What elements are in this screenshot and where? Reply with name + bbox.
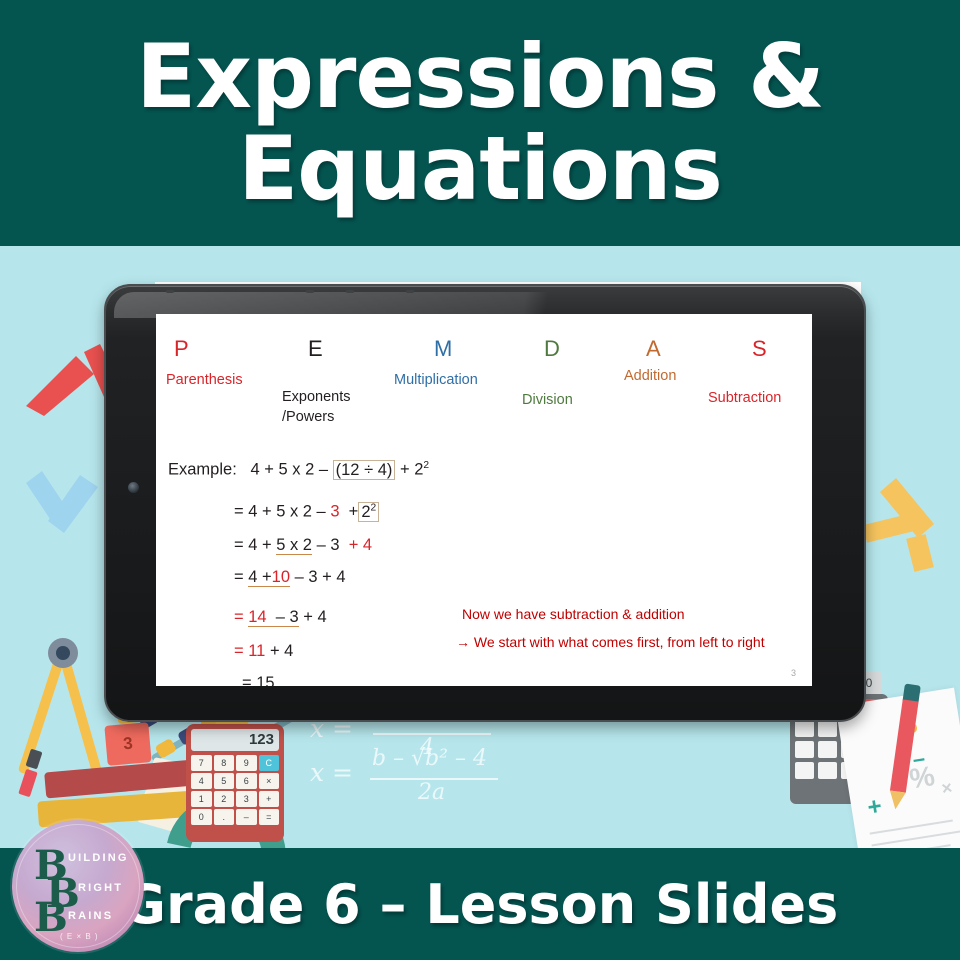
calc-key-clear[interactable]: C	[259, 755, 280, 771]
calc-key[interactable]	[795, 741, 814, 758]
step4-underline: 4 +10	[248, 568, 290, 587]
poster-root: Expressions & Equations x = b² + 4ac 4 x…	[0, 0, 960, 960]
compass-leg-left	[18, 657, 65, 774]
poster-header: Expressions & Equations	[0, 0, 960, 246]
example-line: Example: 4 + 5 x 2 – (12 ÷ 4) + 22	[168, 460, 429, 480]
step5-underline: 14 – 3	[248, 608, 298, 627]
pemdas-word-addition: Addition	[624, 368, 676, 384]
step-4: = 4 +10 – 3 + 4	[234, 568, 346, 587]
poster-footer: Grade 6 – Lesson Slides	[0, 848, 960, 960]
calc-key[interactable]: .	[214, 809, 235, 825]
calc-key[interactable]: =	[259, 809, 280, 825]
brand-logo: B B B UILDING RIGHT RAINS ( E × B )	[12, 820, 144, 952]
pencil-point	[887, 790, 905, 810]
times-symbol-icon: ×	[940, 777, 954, 799]
calc-key[interactable]	[818, 762, 837, 779]
step3-value: + 4	[349, 536, 372, 554]
yellow-bracket-icon	[860, 474, 950, 584]
tablet-sensor-strip	[166, 290, 466, 293]
compass-pencil-tip	[18, 769, 37, 797]
pemdas-word-division: Division	[522, 392, 573, 408]
example-label: Example:	[168, 461, 237, 479]
calc-key[interactable]: 5	[214, 773, 235, 789]
calc-key[interactable]: 0	[191, 809, 212, 825]
calculator-left-keypad[interactable]: 7 8 9 C 4 5 6 × 1 2 3 + 0 . – =	[191, 755, 279, 825]
block-three: 3	[104, 722, 151, 766]
header-title-line1: Expressions &	[136, 34, 824, 120]
calc-key[interactable]: 2	[214, 791, 235, 807]
pemdas-letter-s: S	[752, 336, 767, 362]
calc-key[interactable]: +	[259, 791, 280, 807]
step2-highlight-box: 22	[358, 502, 379, 522]
formula-denominator-2: 2a	[418, 780, 445, 805]
calc-key[interactable]: –	[236, 809, 257, 825]
blue-x-icon	[18, 471, 108, 561]
slide-number: 3	[791, 668, 796, 678]
calc-key[interactable]: 8	[214, 755, 235, 771]
pemdas-letter-p: P	[174, 336, 189, 362]
calc-key[interactable]: 9	[236, 755, 257, 771]
tablet-device: P E M D A S Parenthesis Exponents /Power…	[104, 284, 866, 722]
pemdas-letter-e: E	[308, 336, 323, 362]
pemdas-letter-m: M	[434, 336, 452, 362]
calculator-left[interactable]: 123 7 8 9 C 4 5 6 × 1 2 3 + 0 . – =	[186, 724, 284, 842]
pemdas-letter-a: A	[646, 336, 661, 362]
step-3: = 4 + 5 x 2 – 3 + 4	[234, 536, 372, 555]
logo-word-building: UILDING	[68, 852, 129, 864]
plus-symbol-icon: +	[866, 793, 884, 823]
logo-word-brains: RAINS	[68, 910, 113, 922]
step2-value: 3	[330, 503, 339, 521]
camera-icon	[128, 482, 139, 493]
compass-pivot	[56, 646, 70, 660]
calc-key[interactable]: 4	[191, 773, 212, 789]
pemdas-word-multiplication: Multiplication	[394, 372, 478, 388]
step-2: = 4 + 5 x 2 – 3 +22	[234, 502, 379, 522]
pemdas-letter-d: D	[544, 336, 560, 362]
calc-key[interactable]	[818, 720, 837, 737]
logo-word-bright: RIGHT	[78, 882, 123, 894]
step3-underline: 5 x 2	[276, 536, 312, 555]
pemdas-word-parenthesis: Parenthesis	[166, 372, 243, 388]
step-6: = 11 + 4	[234, 642, 293, 661]
calc-key[interactable]	[795, 720, 814, 737]
calc-key[interactable]	[818, 741, 837, 758]
slide-screen: P E M D A S Parenthesis Exponents /Power…	[156, 314, 812, 686]
calc-key[interactable]: 3	[236, 791, 257, 807]
step1-highlight-box: (12 ÷ 4)	[333, 460, 396, 480]
note-line-2: → We start with what comes first, from l…	[456, 634, 765, 650]
pemdas-word-subtraction: Subtraction	[708, 390, 781, 406]
compass-leg-right	[60, 657, 103, 775]
footer-title: Grade 6 – Lesson Slides	[122, 873, 839, 936]
paper-rule	[870, 820, 953, 835]
calc-key[interactable]: 1	[191, 791, 212, 807]
header-title-line2: Equations	[238, 126, 722, 212]
logo-subtext: ( E × B )	[60, 932, 99, 941]
calc-key[interactable]: 7	[191, 755, 212, 771]
step-7: = 15	[242, 674, 275, 686]
calc-key[interactable]	[795, 762, 814, 779]
calculator-left-display: 123	[191, 729, 279, 751]
calc-key[interactable]: ×	[259, 773, 280, 789]
formula-numerator-2: b – √b² – 4	[372, 746, 487, 771]
note-line-1: Now we have subtraction & addition	[462, 606, 685, 622]
step-5: = 14 – 3 + 4	[234, 608, 327, 627]
percent-symbol-icon: %	[907, 760, 937, 796]
pemdas-word-exponents: Exponents /Powers	[282, 388, 351, 427]
calc-key[interactable]: 6	[236, 773, 257, 789]
